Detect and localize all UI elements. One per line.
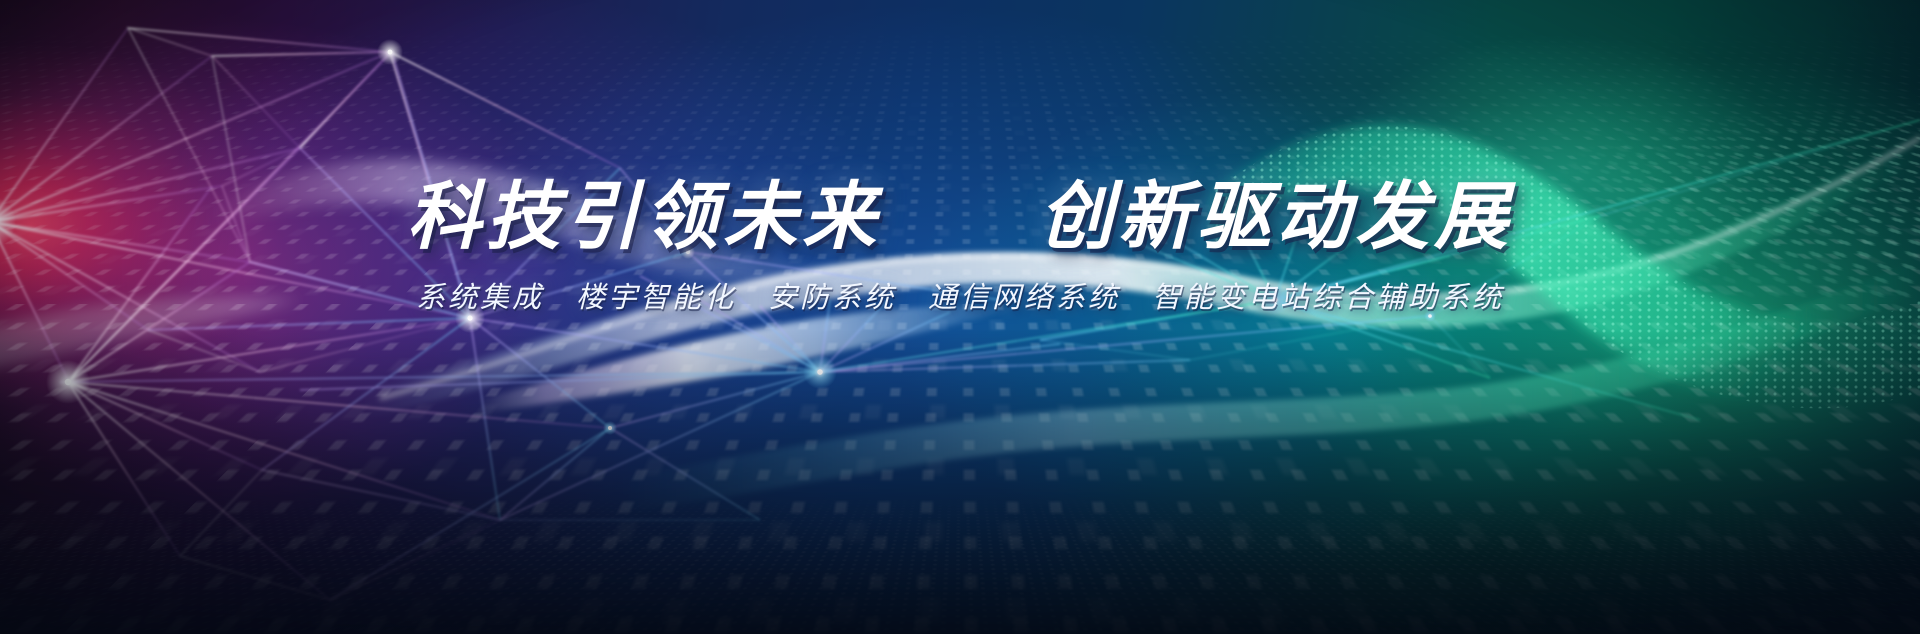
glow-green-secondary [0, 0, 1920, 634]
polygonal-network-overlay [0, 0, 1920, 634]
glow-blue [0, 0, 1920, 634]
vignette-overlay [0, 0, 1920, 634]
network-lines-middle [60, 52, 1430, 600]
green-wave-crest [0, 0, 1920, 634]
glow-magenta [0, 0, 1920, 634]
glow-green [0, 0, 1920, 634]
background-base-gradient [0, 0, 1920, 634]
glow-red [0, 0, 1920, 634]
dotted-wave-mesh-primary [0, 0, 1920, 34]
page-title: 科技引领未来 创新驱动发展 [0, 178, 1920, 258]
light-ribbon-group [0, 0, 1920, 634]
glow-violet [0, 0, 1920, 634]
dotted-wave-mesh-lower [0, 440, 1920, 634]
glow-cyan [0, 0, 1920, 634]
page-subtitle: 系统集成 楼宇智能化 安防系统 通信网络系统 智能变电站综合辅助系统 [0, 280, 1920, 315]
dotted-wave-mesh-secondary [0, 0, 1920, 23]
tech-banner: 科技引领未来 创新驱动发展 系统集成 楼宇智能化 安防系统 通信网络系统 智能变… [0, 0, 1920, 634]
banner-text-block: 科技引领未来 创新驱动发展 系统集成 楼宇智能化 安防系统 通信网络系统 智能变… [0, 178, 1920, 315]
dotted-wave-crest-highlight [0, 0, 1920, 37]
light-ribbon-accent [480, 306, 1020, 412]
